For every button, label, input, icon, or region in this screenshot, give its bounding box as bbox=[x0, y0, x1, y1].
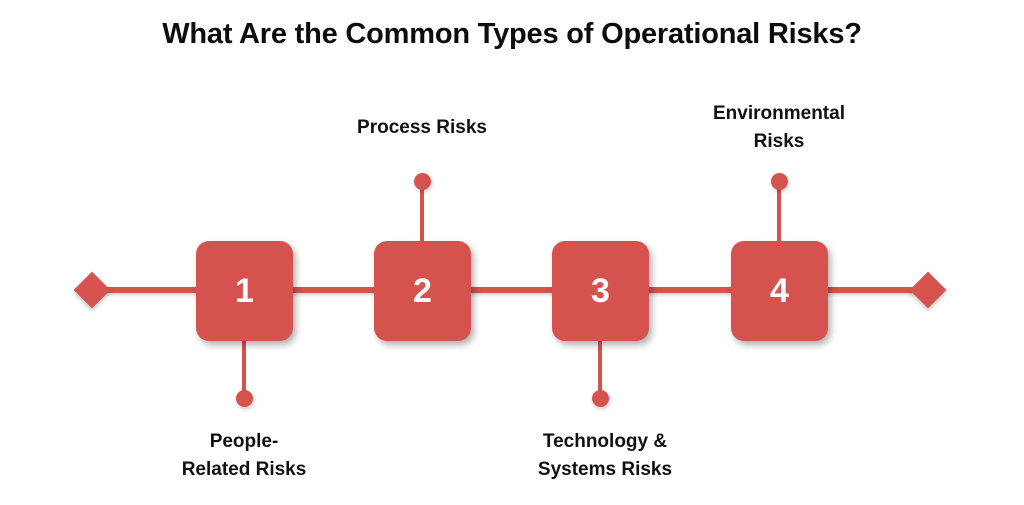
step-4-label-line-2: Risks bbox=[664, 128, 894, 156]
step-1-number: 1 bbox=[235, 272, 254, 311]
step-2-node[interactable]: 2 bbox=[374, 241, 471, 341]
step-3-label-line-1: Technology & bbox=[490, 428, 720, 456]
step-4-label-line-1: Environmental bbox=[664, 100, 894, 128]
step-4-label: Environmental Risks bbox=[664, 100, 894, 155]
step-3-label: Technology & Systems Risks bbox=[490, 428, 720, 483]
step-1-dot-icon bbox=[236, 390, 253, 407]
step-4-node[interactable]: 4 bbox=[731, 241, 828, 341]
step-1-node[interactable]: 1 bbox=[196, 241, 293, 341]
step-2-dot-icon bbox=[414, 173, 431, 190]
step-3-label-line-2: Systems Risks bbox=[490, 456, 720, 484]
infographic-canvas: What Are the Common Types of Operational… bbox=[0, 0, 1024, 505]
step-3-node[interactable]: 3 bbox=[552, 241, 649, 341]
step-4-number: 4 bbox=[770, 272, 789, 311]
timeline-start-diamond-icon bbox=[74, 272, 111, 309]
step-2-number: 2 bbox=[413, 272, 432, 311]
timeline-end-diamond-icon bbox=[910, 272, 947, 309]
step-4-dot-icon bbox=[771, 173, 788, 190]
step-1-label-line-1: People- bbox=[129, 428, 359, 456]
step-3-number: 3 bbox=[591, 272, 610, 311]
step-2-label-line-1: Process Risks bbox=[307, 114, 537, 142]
step-1-label-line-2: Related Risks bbox=[129, 456, 359, 484]
step-3-dot-icon bbox=[592, 390, 609, 407]
step-1-label: People- Related Risks bbox=[129, 428, 359, 483]
page-title: What Are the Common Types of Operational… bbox=[0, 18, 1024, 51]
step-2-label: Process Risks bbox=[307, 114, 537, 142]
